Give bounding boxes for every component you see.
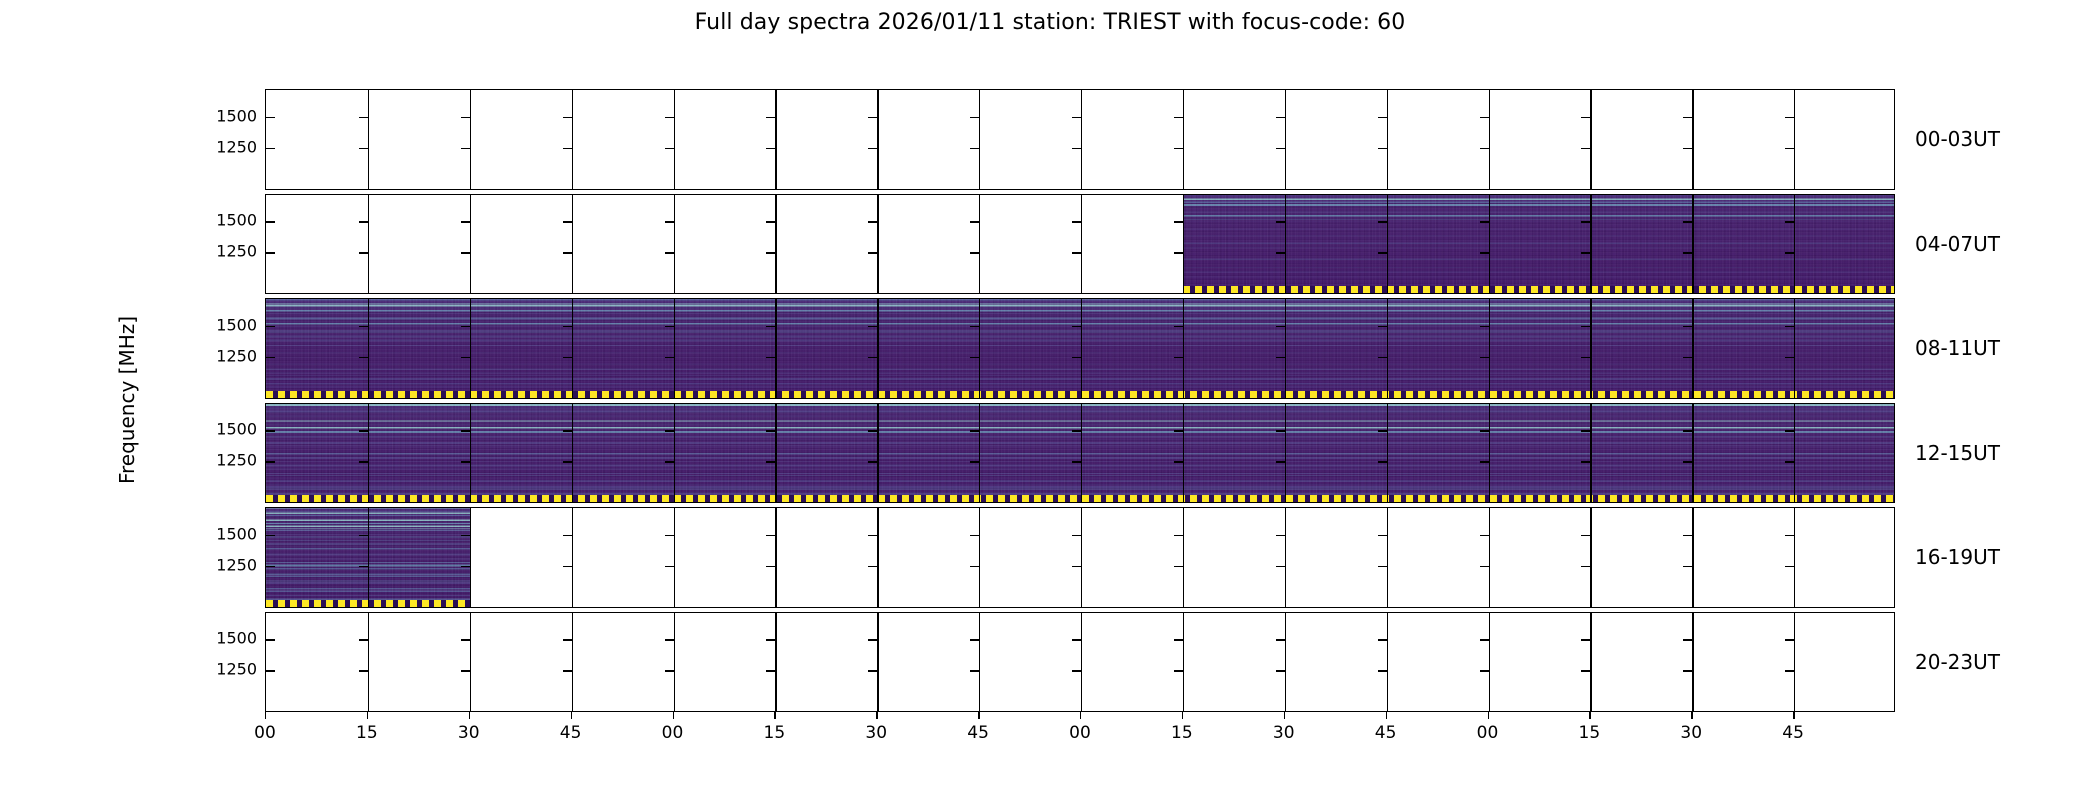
x-tick-label: 30	[1680, 723, 1702, 743]
subpanel-separator	[979, 90, 980, 189]
y-tick-mark	[665, 221, 674, 222]
y-tick-mark	[1581, 535, 1590, 536]
y-tick-mark	[266, 148, 275, 149]
y-tick-mark	[1174, 221, 1183, 222]
x-tick-mark	[1284, 712, 1285, 719]
y-tick-mark	[766, 221, 775, 222]
y-tick-mark	[563, 148, 572, 149]
saturated-low-frequency-bin	[266, 600, 470, 607]
subpanel-separator	[674, 613, 675, 712]
y-tick-mark	[1276, 117, 1285, 118]
x-tick-mark	[367, 712, 368, 719]
spectrogram-image	[266, 508, 470, 607]
subpanel-separator	[572, 90, 573, 189]
y-tick-mark	[1581, 566, 1590, 567]
x-tick-label: 30	[458, 723, 480, 743]
y-tick-mark	[1072, 670, 1081, 671]
spectrogram-data	[1183, 195, 1895, 294]
y-tick-mark	[1174, 117, 1183, 118]
y-tick-mark	[766, 670, 775, 671]
x-tick-mark	[1080, 712, 1081, 719]
y-tick-mark	[266, 639, 275, 640]
spectrogram-data	[266, 299, 1895, 398]
subpanel-separator	[572, 508, 573, 607]
y-tick-mark	[461, 670, 470, 671]
subpanel-separator	[979, 195, 980, 294]
y-tick-label: 1500	[216, 420, 257, 439]
y-tick-mark	[1072, 252, 1081, 253]
subpanel-separator	[877, 508, 878, 607]
y-tick-mark	[1480, 566, 1489, 567]
subpanel-separator	[877, 613, 878, 712]
y-tick-mark	[1276, 148, 1285, 149]
y-tick-mark	[266, 117, 275, 118]
subpanel-separator	[1489, 613, 1490, 712]
y-tick-mark	[665, 252, 674, 253]
y-tick-mark	[1276, 639, 1285, 640]
subpanel-separator-layer	[266, 508, 1894, 607]
figure-title: Full day spectra 2026/01/11 station: TRI…	[0, 10, 2100, 35]
y-tick-mark	[868, 639, 877, 640]
spectrogram-data	[266, 508, 470, 607]
y-tick-mark	[359, 670, 368, 671]
y-tick-mark	[970, 639, 979, 640]
y-tick-mark	[766, 639, 775, 640]
row-axes-box	[265, 194, 1895, 295]
y-tick-mark	[1378, 117, 1387, 118]
x-tick-mark	[1386, 712, 1387, 719]
y-tick-mark	[1785, 566, 1794, 567]
x-tick-label: 00	[1069, 723, 1091, 743]
y-tick-mark	[266, 670, 275, 671]
x-tick-mark	[469, 712, 470, 719]
subpanel-separator	[1692, 508, 1693, 607]
y-tick-mark	[868, 670, 877, 671]
y-tick-label: 1250	[216, 346, 257, 365]
subpanel-separator	[368, 90, 369, 189]
subpanel-separator	[1387, 508, 1388, 607]
x-tick-label: 45	[560, 723, 582, 743]
y-tick-mark	[766, 535, 775, 536]
y-tick-mark	[1683, 117, 1692, 118]
y-tick-mark	[563, 535, 572, 536]
y-tick-mark	[1174, 252, 1183, 253]
y-tick-mark	[1072, 117, 1081, 118]
y-tick-mark	[1683, 670, 1692, 671]
y-tick-label: 1500	[216, 211, 257, 230]
y-tick-mark	[766, 148, 775, 149]
y-tick-mark	[1174, 566, 1183, 567]
subpanel-separator	[1794, 90, 1795, 189]
spectrogram-row-08-11ut	[265, 298, 1895, 399]
subpanel-separator	[1590, 90, 1591, 189]
plot-area	[265, 89, 1895, 712]
y-tick-mark	[1378, 148, 1387, 149]
row-time-range-label: 00-03UT	[1915, 127, 2000, 151]
subpanel-separator	[470, 613, 471, 712]
y-tick-mark	[266, 221, 275, 222]
x-tick-mark	[1589, 712, 1590, 719]
x-tick-label: 15	[1171, 723, 1193, 743]
y-tick-mark	[1785, 117, 1794, 118]
subpanel-separator	[775, 195, 776, 294]
subpanel-separator	[1183, 613, 1184, 712]
y-tick-mark	[1581, 670, 1590, 671]
subpanel-separator	[1794, 613, 1795, 712]
y-tick-mark	[563, 221, 572, 222]
y-tick-mark	[461, 252, 470, 253]
x-axis: 00153045001530450015304500153045	[265, 712, 1895, 772]
subpanel-separator-layer	[266, 613, 1894, 712]
y-tick-mark	[970, 221, 979, 222]
spectrogram-image	[266, 404, 1895, 503]
y-tick-label: 1500	[216, 106, 257, 125]
y-tick-mark	[1683, 148, 1692, 149]
y-tick-mark	[1480, 535, 1489, 536]
subpanel-separator	[877, 195, 878, 294]
x-tick-mark	[571, 712, 572, 719]
subpanel-separator	[674, 508, 675, 607]
y-tick-label: 1250	[216, 660, 257, 679]
subpanel-separator	[572, 613, 573, 712]
y-tick-label: 1500	[216, 315, 257, 334]
y-tick-mark	[1276, 566, 1285, 567]
y-tick-mark	[359, 252, 368, 253]
row-axes-box	[265, 403, 1895, 504]
row-axes-box	[265, 507, 1895, 608]
x-tick-mark	[978, 712, 979, 719]
subpanel-separator	[1081, 195, 1082, 294]
y-tick-mark	[1785, 639, 1794, 640]
y-tick-mark	[665, 535, 674, 536]
row-time-range-label: 20-23UT	[1915, 650, 2000, 674]
y-tick-mark	[1480, 148, 1489, 149]
subpanel-separator	[1692, 613, 1693, 712]
y-tick-mark	[1072, 221, 1081, 222]
y-tick-mark	[970, 117, 979, 118]
row-axes-box	[265, 89, 1895, 190]
x-tick-label: 45	[1782, 723, 1804, 743]
subpanel-separator	[775, 90, 776, 189]
y-tick-mark	[1683, 566, 1692, 567]
subpanel-separator	[1285, 508, 1286, 607]
spectrogram-row-16-19ut	[265, 507, 1895, 608]
y-tick-mark	[1581, 148, 1590, 149]
y-tick-mark	[665, 566, 674, 567]
y-tick-mark	[1378, 566, 1387, 567]
subpanel-separator	[1081, 90, 1082, 189]
y-tick-mark	[1785, 148, 1794, 149]
subpanel-separator	[1183, 508, 1184, 607]
x-tick-label: 15	[1579, 723, 1601, 743]
x-tick-label: 30	[1273, 723, 1295, 743]
y-tick-mark	[563, 670, 572, 671]
y-tick-label: 1250	[216, 555, 257, 574]
x-tick-mark	[1182, 712, 1183, 719]
y-tick-mark	[970, 670, 979, 671]
subpanel-separator	[979, 613, 980, 712]
spectrogram-data	[266, 404, 1895, 503]
spectrogram-image	[266, 299, 1895, 398]
y-axis-label: Frequency [MHz]	[115, 316, 139, 484]
y-tick-label: 1500	[216, 629, 257, 648]
y-tick-mark	[563, 639, 572, 640]
y-tick-mark	[563, 252, 572, 253]
y-tick-mark	[359, 117, 368, 118]
y-tick-mark	[563, 117, 572, 118]
x-tick-label: 00	[254, 723, 276, 743]
saturated-low-frequency-bin	[266, 391, 1895, 398]
spectrogram-row-20-23ut	[265, 612, 1895, 713]
subpanel-separator	[674, 90, 675, 189]
y-tick-mark	[766, 566, 775, 567]
y-tick-mark	[461, 639, 470, 640]
y-tick-mark	[665, 639, 674, 640]
y-tick-mark	[1581, 639, 1590, 640]
subpanel-separator	[470, 195, 471, 294]
x-tick-mark	[1793, 712, 1794, 719]
y-tick-label: 1250	[216, 137, 257, 156]
y-tick-mark	[868, 221, 877, 222]
x-tick-label: 15	[356, 723, 378, 743]
y-tick-mark	[868, 252, 877, 253]
y-tick-mark	[461, 221, 470, 222]
y-tick-mark	[766, 117, 775, 118]
subpanel-separator	[1489, 508, 1490, 607]
y-tick-mark	[359, 639, 368, 640]
vertical-noise-layer	[266, 299, 1895, 398]
y-tick-mark	[461, 117, 470, 118]
y-tick-mark	[1276, 670, 1285, 671]
y-tick-label-column: 1500125015001250150012501500125015001250…	[175, 89, 257, 712]
vertical-noise-layer	[1183, 195, 1895, 294]
subpanel-separator	[1692, 90, 1693, 189]
row-time-range-label: 08-11UT	[1915, 336, 2000, 360]
y-tick-mark	[868, 148, 877, 149]
y-tick-mark	[1174, 639, 1183, 640]
y-tick-mark	[461, 148, 470, 149]
subpanel-separator	[572, 195, 573, 294]
subpanel-separator	[470, 508, 471, 607]
subpanel-separator	[674, 195, 675, 294]
y-tick-mark	[868, 117, 877, 118]
spectrogram-image	[1183, 195, 1895, 294]
spectrogram-row-04-07ut	[265, 194, 1895, 295]
y-tick-mark	[970, 252, 979, 253]
row-axes-box	[265, 298, 1895, 399]
y-tick-mark	[1174, 670, 1183, 671]
y-tick-mark	[665, 117, 674, 118]
subpanel-separator	[1285, 613, 1286, 712]
y-tick-mark	[1072, 639, 1081, 640]
row-time-range-label: 04-07UT	[1915, 232, 2000, 256]
vertical-noise-layer	[266, 508, 470, 607]
saturated-low-frequency-bin	[1183, 286, 1895, 293]
x-tick-mark	[673, 712, 674, 719]
vertical-noise-layer	[266, 404, 1895, 503]
subpanel-separator	[1081, 508, 1082, 607]
y-tick-mark	[1072, 566, 1081, 567]
y-tick-mark	[970, 566, 979, 567]
subpanel-separator	[368, 195, 369, 294]
subpanel-separator	[1183, 90, 1184, 189]
y-tick-mark	[1683, 639, 1692, 640]
y-tick-label: 1250	[216, 451, 257, 470]
y-tick-mark	[766, 252, 775, 253]
subpanel-separator-layer	[266, 90, 1894, 189]
y-tick-mark	[1378, 535, 1387, 536]
subpanel-separator	[979, 508, 980, 607]
y-tick-mark	[970, 148, 979, 149]
y-tick-label: 1250	[216, 242, 257, 261]
y-tick-mark	[665, 670, 674, 671]
subpanel-separator	[470, 90, 471, 189]
subpanel-separator	[1387, 90, 1388, 189]
figure-canvas: Full day spectra 2026/01/11 station: TRI…	[0, 0, 2100, 800]
x-tick-mark	[265, 712, 266, 719]
y-tick-mark	[1072, 535, 1081, 536]
subpanel-separator	[368, 613, 369, 712]
y-tick-mark	[1785, 670, 1794, 671]
y-tick-mark	[1378, 670, 1387, 671]
x-tick-mark	[1488, 712, 1489, 719]
y-tick-mark	[868, 566, 877, 567]
subpanel-separator	[1590, 613, 1591, 712]
y-tick-mark	[868, 535, 877, 536]
y-tick-mark	[1072, 148, 1081, 149]
x-tick-mark	[774, 712, 775, 719]
y-tick-mark	[1480, 117, 1489, 118]
y-tick-mark	[1378, 639, 1387, 640]
y-tick-mark	[1480, 639, 1489, 640]
y-tick-mark	[1785, 535, 1794, 536]
y-tick-mark	[563, 566, 572, 567]
spectrogram-row-00-03ut	[265, 89, 1895, 190]
subpanel-separator	[1285, 90, 1286, 189]
row-time-range-label: 12-15UT	[1915, 441, 2000, 465]
y-tick-mark	[970, 535, 979, 536]
x-tick-label: 45	[967, 723, 989, 743]
x-tick-label: 15	[764, 723, 786, 743]
subpanel-separator	[1489, 90, 1490, 189]
spectrogram-row-12-15ut	[265, 403, 1895, 504]
y-tick-mark	[665, 148, 674, 149]
x-tick-mark	[876, 712, 877, 719]
subpanel-separator	[1590, 508, 1591, 607]
subpanel-separator	[877, 90, 878, 189]
saturated-low-frequency-bin	[266, 495, 1895, 502]
y-tick-mark	[1480, 670, 1489, 671]
subpanel-separator	[1794, 508, 1795, 607]
y-tick-label: 1500	[216, 524, 257, 543]
y-tick-mark	[359, 148, 368, 149]
x-tick-label: 00	[662, 723, 684, 743]
row-time-range-label: 16-19UT	[1915, 545, 2000, 569]
y-tick-mark	[1276, 535, 1285, 536]
y-tick-mark	[1581, 117, 1590, 118]
y-tick-mark	[1174, 535, 1183, 536]
y-tick-mark	[1683, 535, 1692, 536]
subpanel-separator	[775, 613, 776, 712]
x-tick-mark	[1691, 712, 1692, 719]
y-tick-mark	[359, 221, 368, 222]
x-tick-label: 45	[1375, 723, 1397, 743]
row-axes-box	[265, 612, 1895, 713]
subpanel-separator	[1081, 613, 1082, 712]
x-tick-label: 00	[1477, 723, 1499, 743]
subpanel-separator	[1387, 613, 1388, 712]
y-tick-mark	[266, 252, 275, 253]
x-tick-label: 30	[865, 723, 887, 743]
y-tick-mark	[1174, 148, 1183, 149]
subpanel-separator	[775, 508, 776, 607]
